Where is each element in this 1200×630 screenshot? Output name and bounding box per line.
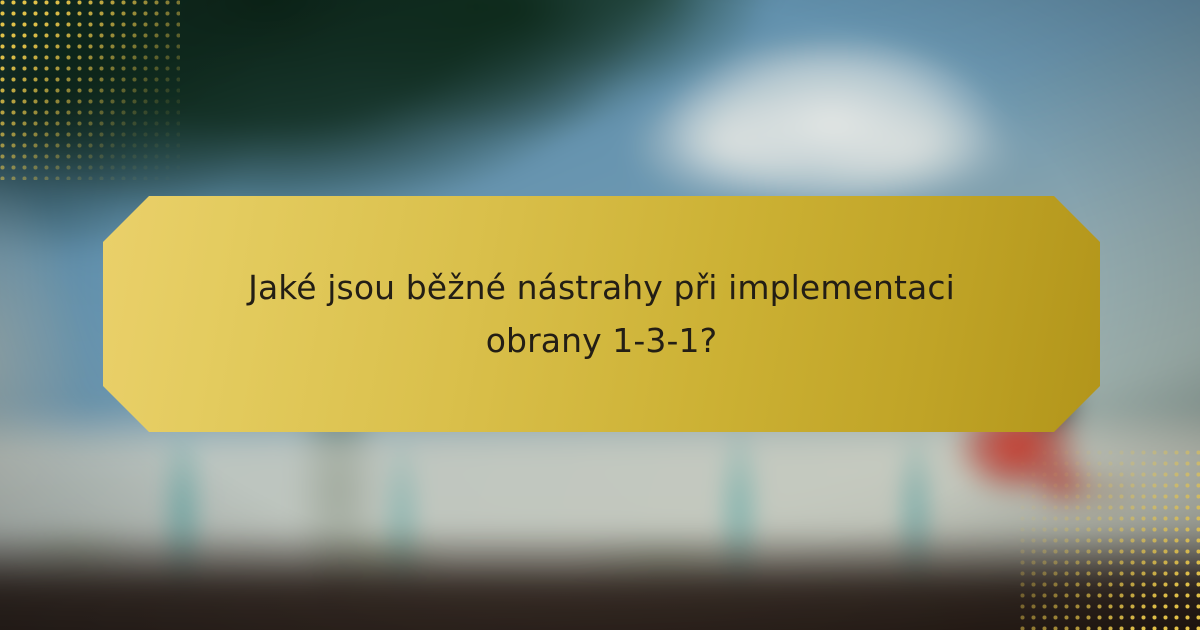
social-card: Jaké jsou běžné nástrahy při implementac… [0,0,1200,630]
question-text: Jaké jsou běžné nástrahy při implementac… [173,261,1030,368]
halftone-dots-top-left-decoration [0,0,180,180]
question-banner: Jaké jsou běžné nástrahy při implementac… [103,196,1100,432]
halftone-dots-bottom-right-decoration [1020,450,1200,630]
